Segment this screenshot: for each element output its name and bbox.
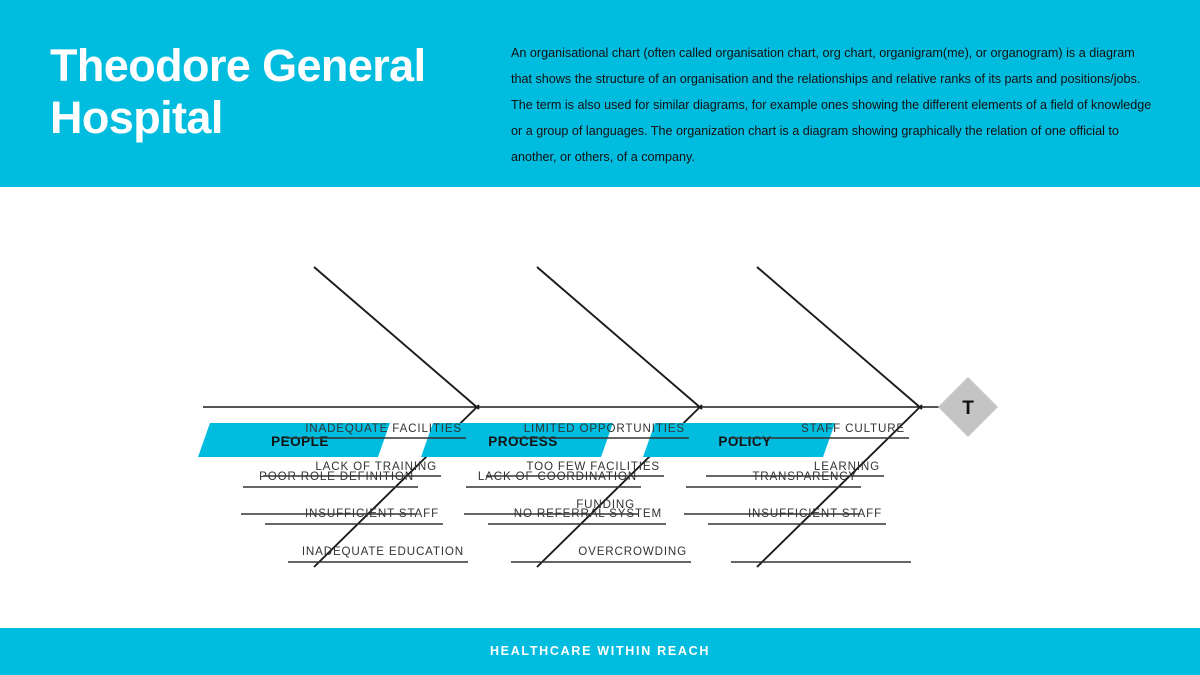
header-description-paragraph: An organisational chart (often called or… <box>511 40 1152 170</box>
header-band: Theodore General Hospital An organisatio… <box>0 0 1200 187</box>
category-bone-process <box>537 267 702 409</box>
cause-label: OVERCROWDING <box>578 545 687 558</box>
cause-label: INADEQUATE FACILITIES <box>305 422 462 435</box>
cause-label: LEARNING <box>814 460 880 473</box>
category-banner-process-label: PROCESS <box>488 434 558 449</box>
category-banner-policy-label: POLICY <box>718 434 771 449</box>
cause-group-process: LACK OF COORDINATION NO REFERRAL SYSTEM … <box>466 470 691 562</box>
cause-label: INADEQUATE EDUCATION <box>302 545 464 558</box>
cause-label: FUNDING <box>576 498 635 511</box>
category-banner-people-label: PEOPLE <box>271 434 329 449</box>
category-bone-people <box>314 267 479 409</box>
fishbone-diagram-area: PEOPLE PROCESS POLICY EQUIPMENT SUPPLIES… <box>0 187 1200 628</box>
fishbone-diagram: PEOPLE PROCESS POLICY EQUIPMENT SUPPLIES… <box>0 187 1200 628</box>
footer-tagline: HEALTHCARE WITHIN REACH <box>0 628 1200 675</box>
cause-label: TOO FEW FACILITIES <box>526 460 660 473</box>
footer-band: HEALTHCARE WITHIN REACH <box>0 628 1200 675</box>
fishbone-head-label: T <box>962 398 974 419</box>
cause-group-people: POOR ROLE DEFINITION INSUFFICIENT STAFF … <box>243 470 468 562</box>
cause-label: LACK OF TRAINING <box>315 460 437 473</box>
cause-label: LIMITED OPPORTUNITIES <box>524 422 685 435</box>
fishbone-head[interactable]: T <box>938 377 998 437</box>
cause-group-policy: TRANSPARENCY INSUFFICIENT STAFF <box>686 470 911 562</box>
cause-label: STAFF CULTURE <box>801 422 905 435</box>
page-title: Theodore General Hospital <box>50 40 480 144</box>
category-bone-policy <box>757 267 922 409</box>
